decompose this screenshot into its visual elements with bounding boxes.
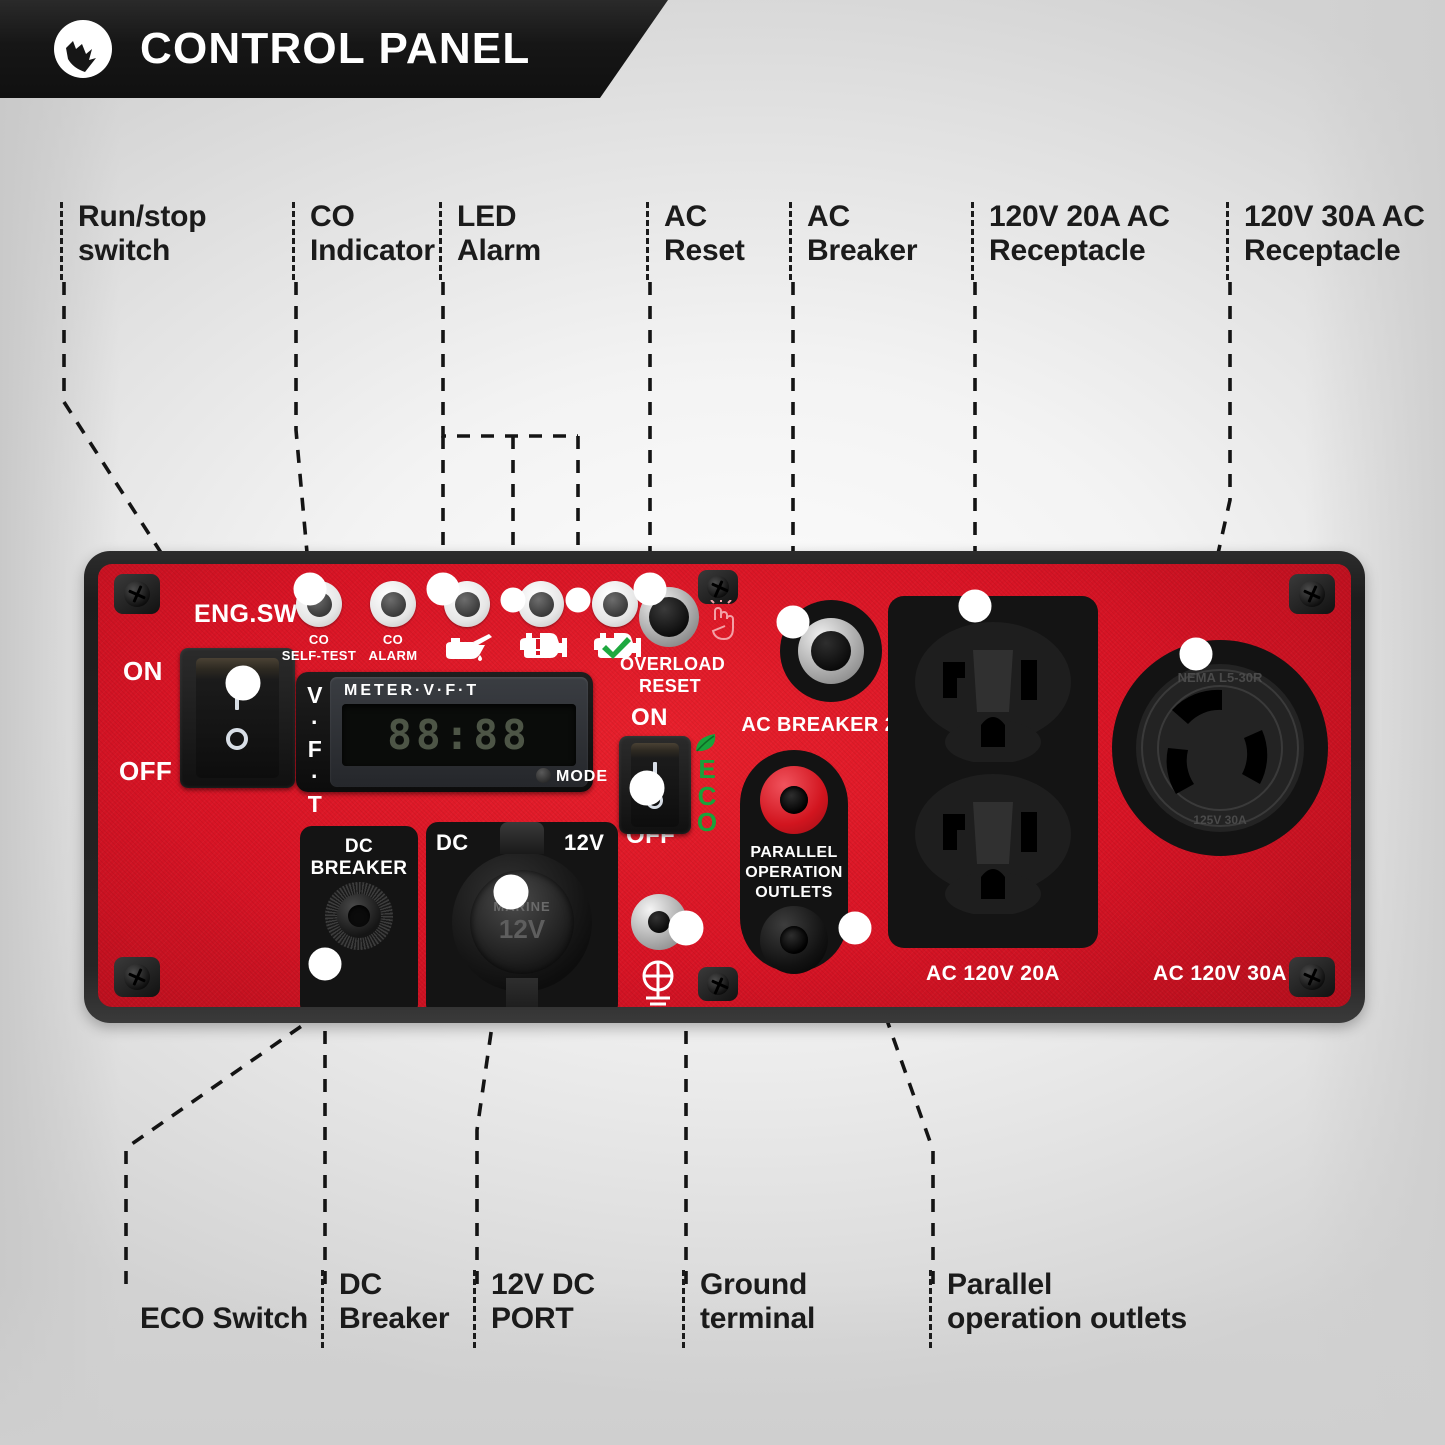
dot-ac-reset — [634, 573, 666, 605]
dot-led-alarm-2 — [501, 588, 525, 612]
dot-ac-breaker — [777, 606, 809, 638]
dot-ac-20a — [959, 590, 991, 622]
dot-led-alarm-3 — [566, 588, 590, 612]
dot-run-stop-switch — [226, 666, 260, 700]
dot-co-indicator — [294, 573, 326, 605]
leader-endpoint-dots — [0, 0, 1445, 1445]
dot-parallel-outlets — [839, 912, 871, 944]
dot-dc-port — [494, 875, 528, 909]
dot-led-alarm-1 — [427, 573, 459, 605]
dot-dc-breaker — [309, 948, 341, 980]
dot-eco-switch — [630, 771, 664, 805]
dot-ground-terminal — [669, 911, 703, 945]
dot-ac-30a — [1180, 638, 1212, 670]
